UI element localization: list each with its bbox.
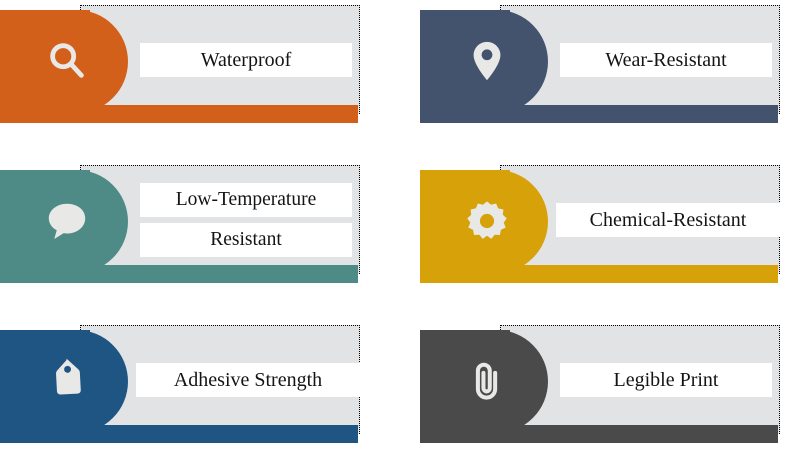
feature-card-legible-print[interactable]: Legible Print [420,320,780,457]
tag-icon [44,358,90,404]
paperclip-icon [464,358,510,404]
gear-icon [464,198,510,244]
card-label-group: Wear-Resistant [560,0,772,119]
card-label: Wear-Resistant [560,43,772,77]
card-label-group: Waterproof [140,0,352,119]
infographic-grid: WaterproofWear-ResistantLow-TemperatureR… [0,0,801,451]
card-label-group: Adhesive Strength [136,320,360,439]
feature-card-adhesive-strength[interactable]: Adhesive Strength [0,320,360,457]
card-label: Low-Temperature [140,183,352,217]
card-label: Legible Print [560,363,772,397]
card-label: Waterproof [140,43,352,77]
card-label: Chemical-Resistant [556,203,780,237]
location-pin-icon [464,38,510,84]
feature-card-wear-resistant[interactable]: Wear-Resistant [420,0,780,137]
search-icon [44,38,90,84]
feature-card-low-temperature-resistant[interactable]: Low-TemperatureResistant [0,160,360,297]
card-label-group: Chemical-Resistant [556,160,780,279]
feature-card-waterproof[interactable]: Waterproof [0,0,360,137]
card-label-group: Legible Print [560,320,772,439]
speech-bubble-icon [44,198,90,244]
card-label-group: Low-TemperatureResistant [140,160,352,279]
feature-card-chemical-resistant[interactable]: Chemical-Resistant [420,160,780,297]
card-label: Resistant [140,223,352,257]
card-label: Adhesive Strength [136,363,360,397]
